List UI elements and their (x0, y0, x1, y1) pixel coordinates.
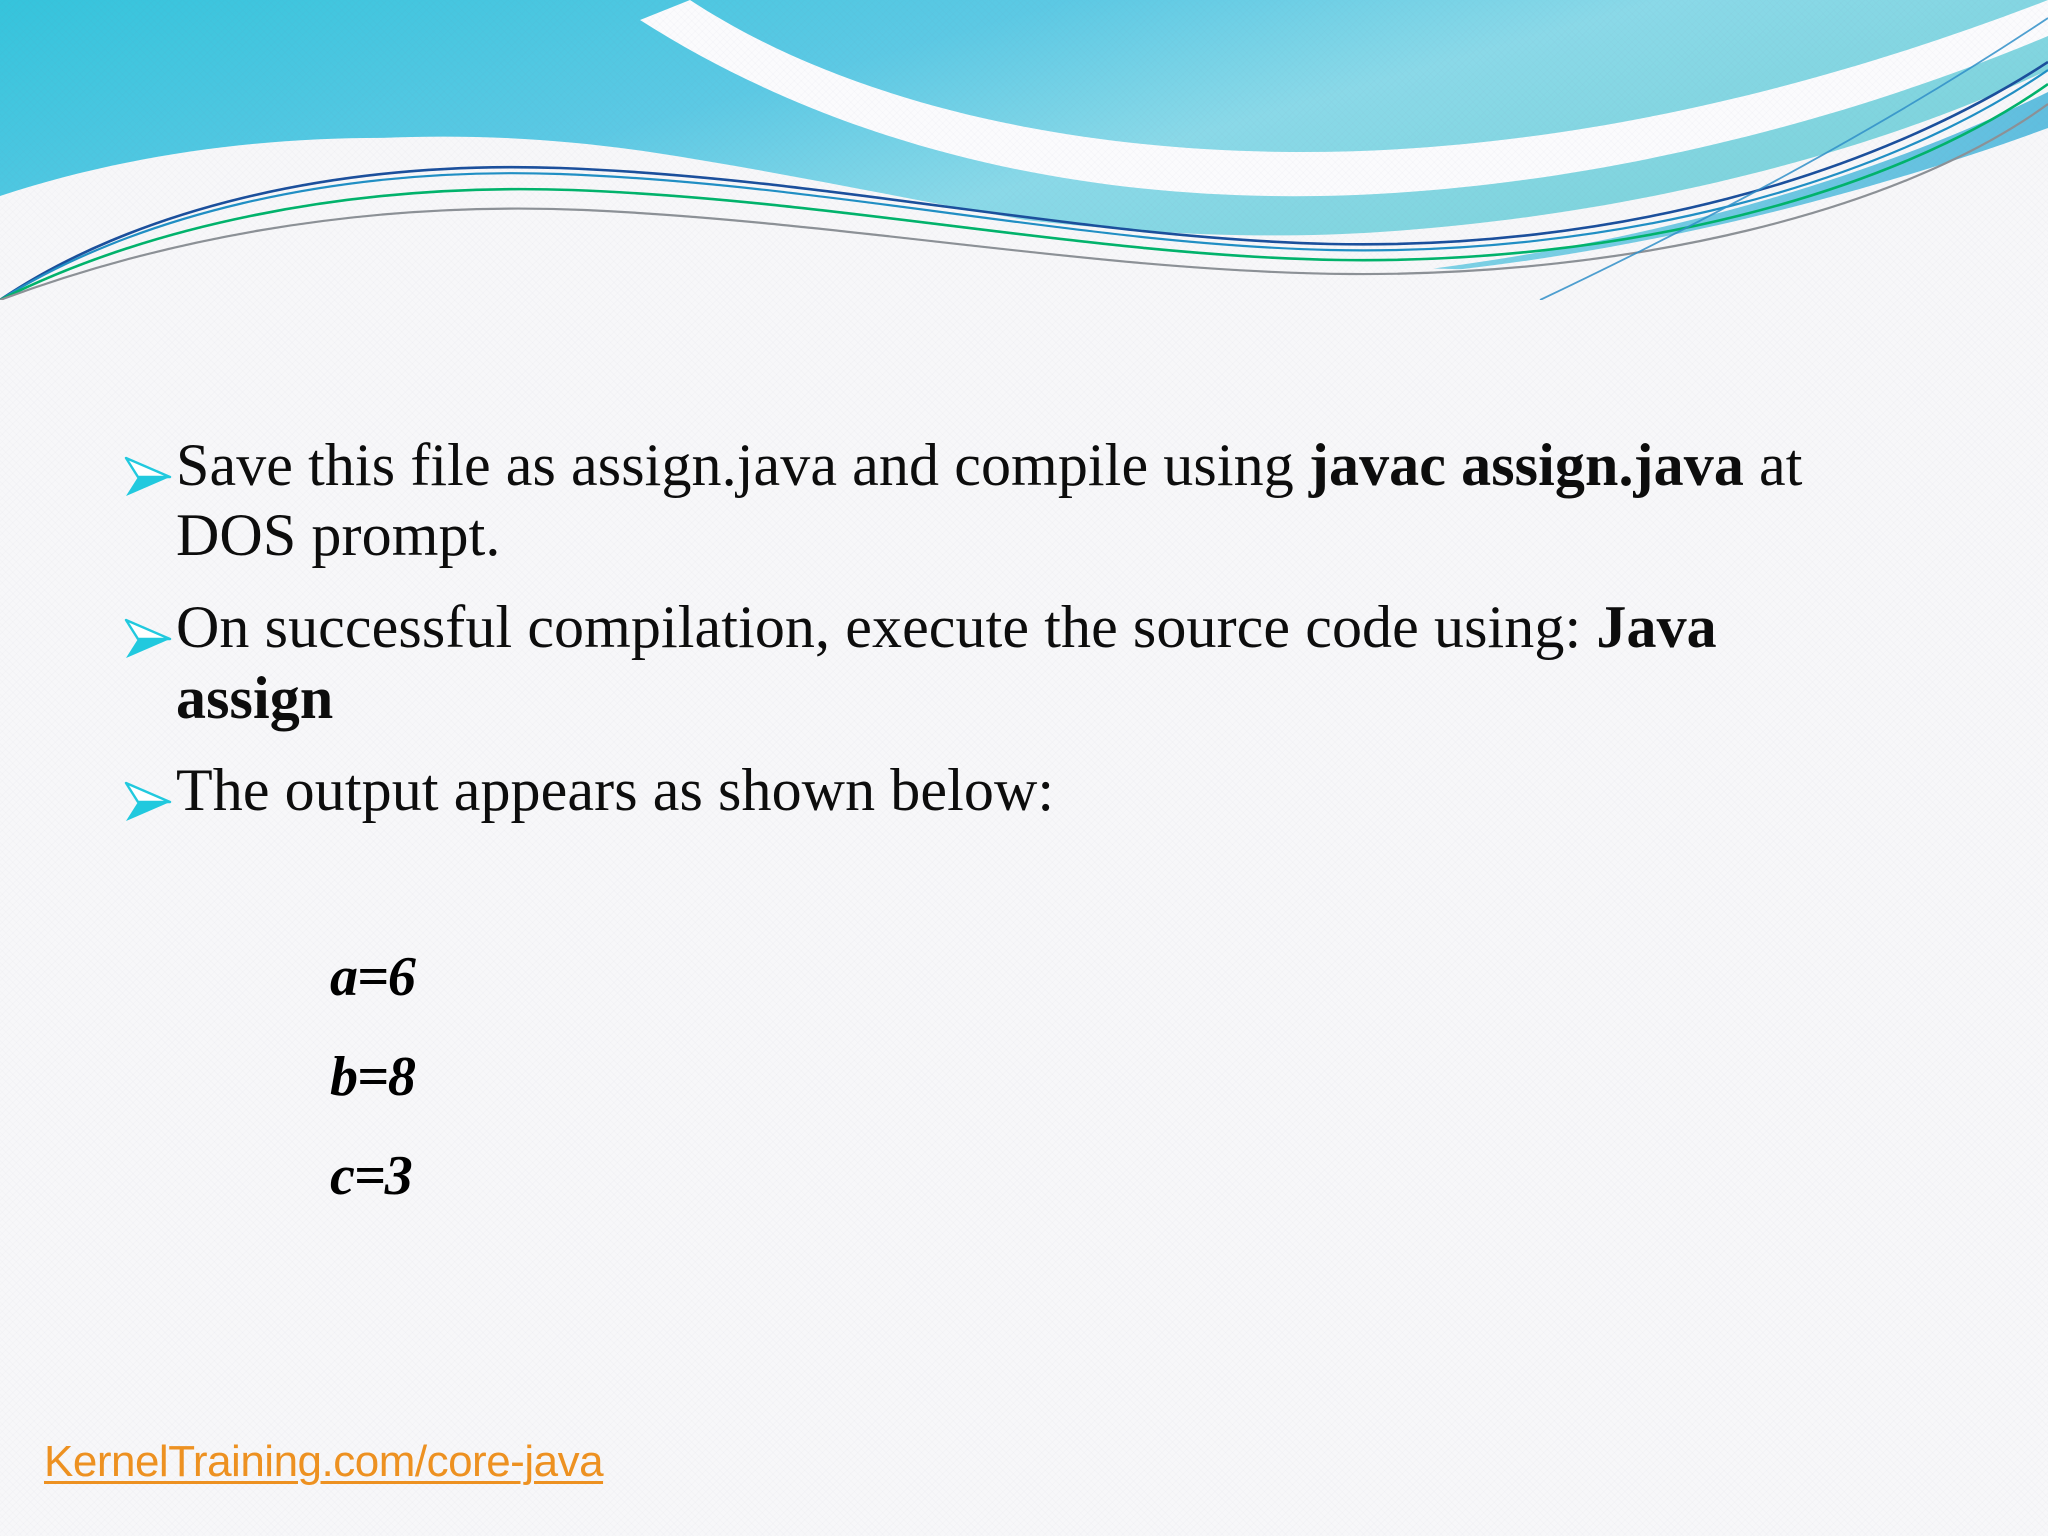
bullet-text: The output appears as shown below: (176, 755, 1880, 825)
arrowhead-bullet-icon (120, 755, 176, 833)
program-output-block: a=6 b=8 c=3 (330, 940, 415, 1239)
output-line-b: b=8 (330, 1040, 415, 1116)
presentation-slide: Save this file as assign.java and compil… (0, 0, 2048, 1536)
arrowhead-bullet-icon (120, 430, 176, 508)
list-item: On successful compilation, execute the s… (120, 592, 1880, 732)
bullet-segment: On successful compilation, execute the s… (176, 594, 1596, 660)
slide-content: Save this file as assign.java and compil… (0, 0, 2048, 1536)
bullet-segment: Save this file as assign.java and compil… (176, 432, 1309, 498)
list-item: Save this file as assign.java and compil… (120, 430, 1880, 570)
bullet-text: Save this file as assign.java and compil… (176, 430, 1880, 570)
output-line-c: c=3 (330, 1139, 415, 1215)
bullet-segment: The output appears as shown below: (176, 757, 1054, 823)
bullet-list: Save this file as assign.java and compil… (120, 430, 1880, 855)
footer-website-link[interactable]: KernelTraining.com/core-java (44, 1437, 603, 1487)
output-line-a: a=6 (330, 940, 415, 1016)
bullet-text: On successful compilation, execute the s… (176, 592, 1880, 732)
list-item: The output appears as shown below: (120, 755, 1880, 833)
arrowhead-bullet-icon (120, 592, 176, 670)
bullet-segment-bold: javac assign.java (1309, 432, 1744, 498)
